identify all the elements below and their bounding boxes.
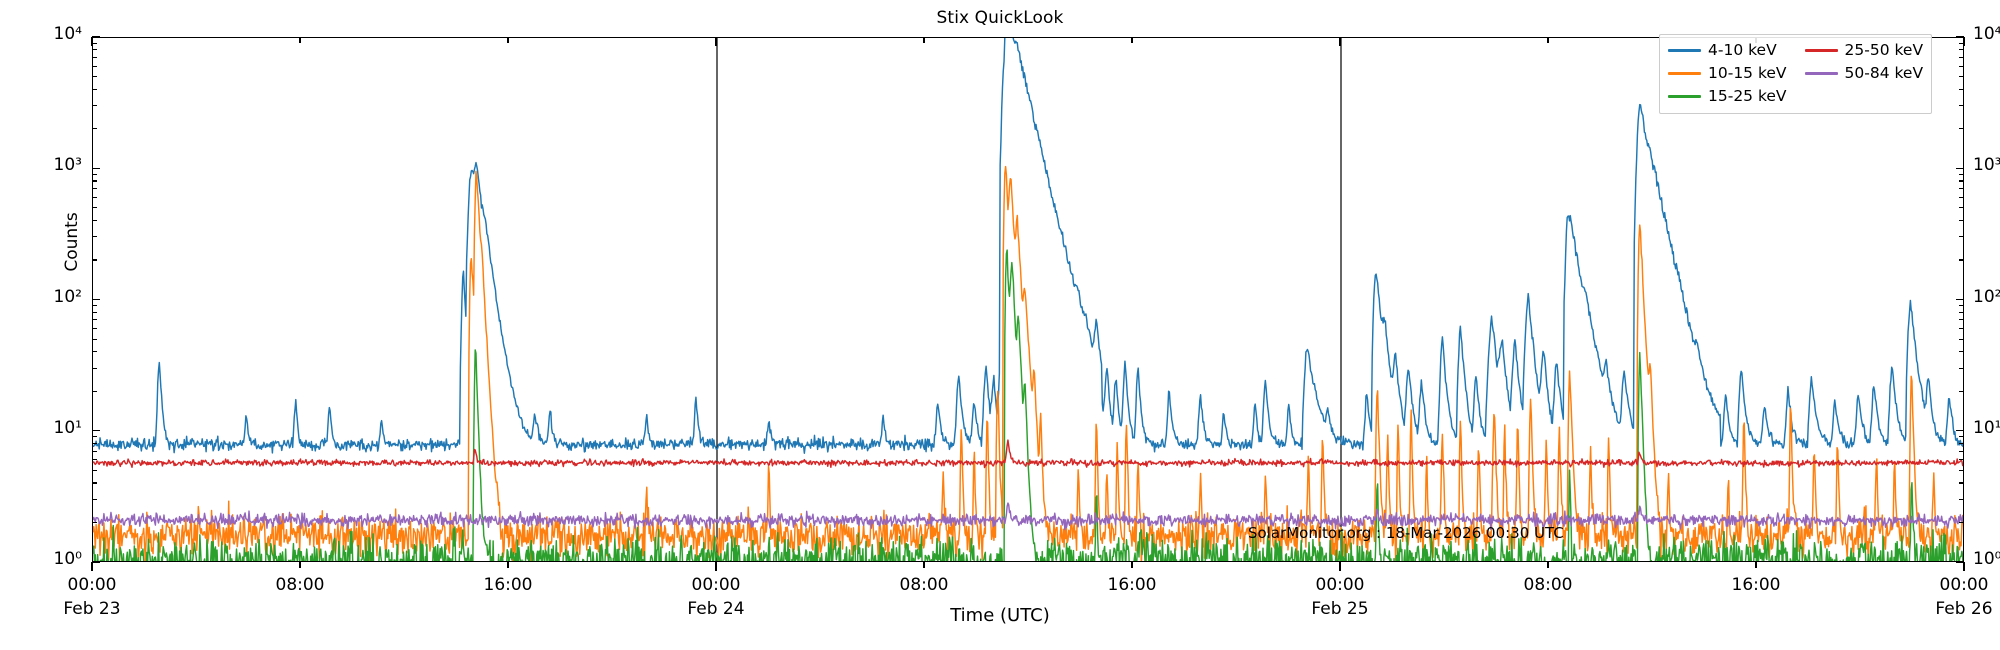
y-tick-minor	[92, 197, 97, 198]
y-tick-label: 10⁰	[0, 549, 82, 569]
x-tick-time-label: 00:00	[1270, 575, 1410, 595]
y-tick-label: 10⁰	[1973, 549, 2000, 569]
y-tick-major	[92, 168, 100, 169]
y-tick-minor	[1959, 66, 1964, 67]
y-tick-minor	[1959, 305, 1964, 306]
y-tick-minor	[92, 319, 97, 320]
y-tick-minor	[1959, 259, 1964, 260]
x-axis-label: Time (UTC)	[0, 605, 2000, 626]
y-tick-minor	[1959, 76, 1964, 77]
y-tick-minor	[92, 368, 97, 369]
y-tick-minor	[1959, 436, 1964, 437]
y-tick-minor	[1959, 443, 1964, 444]
y-tick-minor	[92, 482, 97, 483]
y-tick-minor	[1959, 368, 1964, 369]
x-tick-time-label: 16:00	[438, 575, 578, 595]
legend-label: 50-84 keV	[1845, 66, 1924, 82]
chart-root: Stix QuickLook Counts Time (UTC) 10⁰10⁰1…	[0, 0, 2000, 650]
y-tick-major	[92, 430, 100, 431]
y-tick-minor	[92, 188, 97, 189]
x-tick-date-label: Feb 24	[646, 599, 786, 619]
y-tick-minor	[1959, 499, 1964, 500]
plot-area	[92, 37, 1964, 562]
x-tick	[1963, 562, 1964, 571]
x-tick	[1755, 562, 1756, 568]
y-tick-minor	[92, 522, 97, 523]
y-tick-minor	[1959, 57, 1964, 58]
y-tick-minor	[1959, 391, 1964, 392]
legend-entry[interactable]: 10-15 keV	[1668, 63, 1787, 84]
y-tick-minor	[92, 305, 97, 306]
legend-label: 25-50 keV	[1845, 43, 1924, 59]
legend-color-swatch	[1805, 49, 1838, 52]
y-tick-minor	[92, 312, 97, 313]
x-tick	[715, 562, 716, 571]
y-tick-major	[1956, 168, 1964, 169]
y-tick-minor	[1959, 49, 1964, 50]
x-tick-time-label: 16:00	[1062, 575, 1202, 595]
y-tick-minor	[92, 105, 97, 106]
y-tick-minor	[92, 459, 97, 460]
y-tick-minor	[1959, 180, 1964, 181]
x-tick	[91, 562, 92, 571]
legend-entry[interactable]: 50-84 keV	[1805, 63, 1924, 84]
legend-entry[interactable]: 25-50 keV	[1805, 40, 1924, 61]
x-tick	[299, 562, 300, 568]
x-tick	[1339, 562, 1340, 571]
legend: 4-10 keV25-50 keV10-15 keV50-84 keV15-25…	[1659, 34, 1932, 114]
y-tick-label: 10¹	[0, 418, 82, 438]
y-tick-minor	[92, 76, 97, 77]
y-tick-minor	[92, 236, 97, 237]
x-tick-top	[1131, 37, 1132, 43]
y-tick-minor	[1959, 328, 1964, 329]
y-tick-minor	[1959, 319, 1964, 320]
legend-label: 4-10 keV	[1708, 43, 1777, 59]
legend-entry[interactable]: 15-25 keV	[1668, 86, 1787, 107]
y-tick-minor	[92, 391, 97, 392]
y-tick-minor	[1959, 89, 1964, 90]
y-tick-label: 10²	[0, 287, 82, 307]
y-tick-minor	[1959, 451, 1964, 452]
y-tick-minor	[1959, 220, 1964, 221]
x-tick-top	[1963, 37, 1964, 46]
x-tick-time-label: 16:00	[1686, 575, 1826, 595]
y-tick-minor	[1959, 522, 1964, 523]
y-tick-minor	[92, 207, 97, 208]
y-tick-minor	[92, 339, 97, 340]
y-tick-label: 10¹	[1973, 418, 2000, 438]
y-tick-minor	[92, 259, 97, 260]
plot-svg	[93, 38, 1964, 562]
legend-color-swatch	[1805, 72, 1838, 75]
x-tick-time-label: 00:00	[22, 575, 162, 595]
x-tick-top	[923, 37, 924, 43]
x-tick-top	[1339, 37, 1340, 46]
y-tick-minor	[92, 470, 97, 471]
y-tick-minor	[1959, 197, 1964, 198]
legend-label: 15-25 keV	[1708, 89, 1787, 105]
x-tick	[923, 562, 924, 568]
y-tick-minor	[92, 49, 97, 50]
x-tick-top	[299, 37, 300, 43]
y-tick-minor	[1959, 207, 1964, 208]
legend-entry[interactable]: 4-10 keV	[1668, 40, 1787, 61]
x-tick-top	[507, 37, 508, 43]
y-tick-label: 10⁴	[0, 24, 82, 44]
watermark-credit: SolarMonitor.org : 18-Mar-2026 00:30 UTC	[1248, 524, 1564, 542]
x-tick-top	[715, 37, 716, 46]
y-tick-minor	[1959, 174, 1964, 175]
y-tick-label: 10⁴	[1973, 24, 2000, 44]
y-tick-label: 10³	[1973, 155, 2000, 175]
y-tick-label: 10²	[1973, 287, 2000, 307]
y-tick-minor	[92, 57, 97, 58]
y-tick-major	[92, 299, 100, 300]
y-tick-minor	[92, 451, 97, 452]
y-tick-minor	[1959, 236, 1964, 237]
x-tick-time-label: 08:00	[1478, 575, 1618, 595]
x-tick-date-label: Feb 25	[1270, 599, 1410, 619]
x-tick-time-label: 00:00	[1894, 575, 2000, 595]
legend-color-swatch	[1668, 49, 1701, 52]
y-tick-minor	[1959, 339, 1964, 340]
y-tick-minor	[1959, 128, 1964, 129]
x-tick-time-label: 08:00	[230, 575, 370, 595]
y-tick-minor	[1959, 482, 1964, 483]
x-tick-date-label: Feb 26	[1894, 599, 2000, 619]
y-tick-minor	[92, 89, 97, 90]
y-tick-major	[1956, 299, 1964, 300]
y-tick-minor	[1959, 188, 1964, 189]
y-tick-major	[1956, 430, 1964, 431]
x-tick	[1547, 562, 1548, 568]
x-tick-time-label: 00:00	[646, 575, 786, 595]
y-tick-minor	[1959, 351, 1964, 352]
x-tick-top	[1547, 37, 1548, 43]
x-tick-top	[91, 37, 92, 46]
page-title: Stix QuickLook	[0, 8, 2000, 28]
y-tick-minor	[92, 43, 97, 44]
y-tick-label: 10³	[0, 155, 82, 175]
series-line	[93, 167, 1964, 562]
x-tick	[1131, 562, 1132, 568]
y-tick-minor	[1959, 470, 1964, 471]
y-tick-minor	[92, 499, 97, 500]
y-tick-minor	[1959, 105, 1964, 106]
x-tick-time-label: 08:00	[854, 575, 994, 595]
y-tick-minor	[92, 174, 97, 175]
y-tick-minor	[92, 436, 97, 437]
y-tick-minor	[92, 328, 97, 329]
x-tick	[507, 562, 508, 568]
legend-label: 10-15 keV	[1708, 66, 1787, 82]
y-tick-major	[92, 561, 100, 562]
y-tick-minor	[92, 351, 97, 352]
y-tick-minor	[92, 220, 97, 221]
y-tick-minor	[1959, 312, 1964, 313]
y-tick-minor	[92, 443, 97, 444]
y-tick-minor	[1959, 459, 1964, 460]
legend-color-swatch	[1668, 72, 1701, 75]
x-tick-date-label: Feb 23	[22, 599, 162, 619]
legend-color-swatch	[1668, 95, 1701, 98]
y-tick-major	[92, 36, 100, 37]
y-tick-minor	[92, 128, 97, 129]
y-tick-minor	[92, 66, 97, 67]
y-tick-minor	[92, 180, 97, 181]
